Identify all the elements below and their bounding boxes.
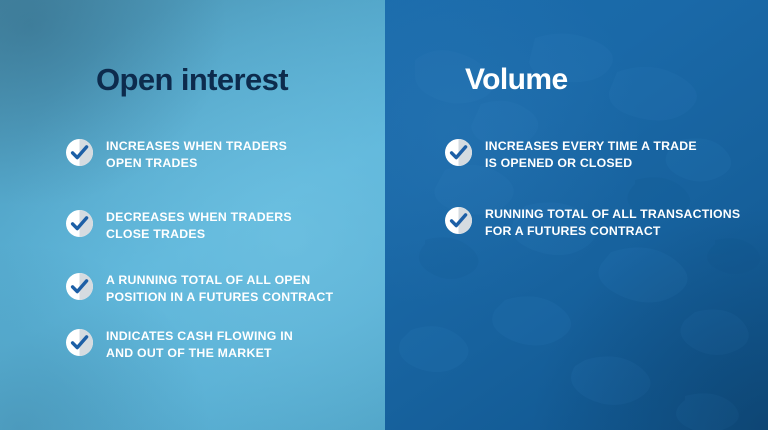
- check-circle-icon: [445, 139, 472, 166]
- list-item: A RUNNING TOTAL OF ALL OPEN POSITION IN …: [66, 272, 376, 305]
- volume-title: Volume: [465, 63, 568, 97]
- list-item-label: INCREASES WHEN TRADERS OPEN TRADES: [106, 138, 287, 171]
- list-item-label: INCREASES EVERY TIME A TRADE IS OPENED O…: [485, 138, 697, 171]
- open-interest-panel: Open interest INCREASES WHEN TRADERS OPE…: [0, 0, 385, 430]
- list-item-label: RUNNING TOTAL OF ALL TRANSACTIONS FOR A …: [485, 206, 740, 239]
- comparison-slide: Open interest INCREASES WHEN TRADERS OPE…: [0, 0, 768, 430]
- open-interest-title: Open interest: [96, 62, 288, 98]
- volume-panel: Volume INCREASES EVERY TIME A TRADE IS O…: [385, 0, 768, 430]
- list-item: INCREASES WHEN TRADERS OPEN TRADES: [66, 138, 366, 171]
- check-circle-icon: [445, 207, 472, 234]
- list-item-label: DECREASES WHEN TRADERS CLOSE TRADES: [106, 209, 292, 242]
- check-circle-icon: [66, 139, 93, 166]
- list-item: DECREASES WHEN TRADERS CLOSE TRADES: [66, 209, 366, 242]
- list-item-label: INDICATES CASH FLOWING IN AND OUT OF THE…: [106, 328, 293, 361]
- list-item: INCREASES EVERY TIME A TRADE IS OPENED O…: [445, 138, 765, 171]
- list-item: RUNNING TOTAL OF ALL TRANSACTIONS FOR A …: [445, 206, 768, 239]
- check-circle-icon: [66, 329, 93, 356]
- check-circle-icon: [66, 210, 93, 237]
- list-item: INDICATES CASH FLOWING IN AND OUT OF THE…: [66, 328, 366, 361]
- list-item-label: A RUNNING TOTAL OF ALL OPEN POSITION IN …: [106, 272, 333, 305]
- check-circle-icon: [66, 273, 93, 300]
